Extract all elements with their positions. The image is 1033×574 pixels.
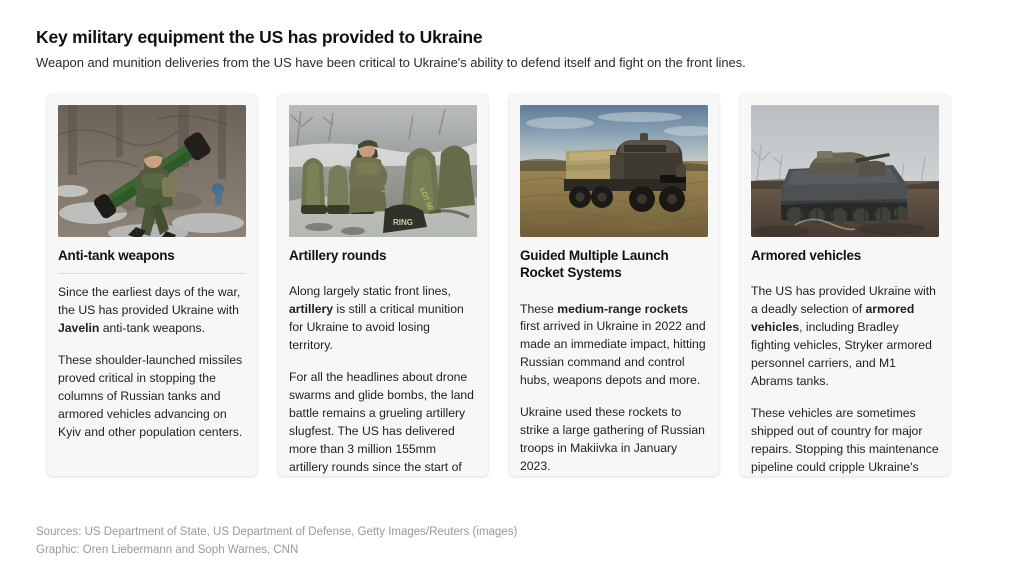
- bradley-fighting-vehicle-photo: [751, 105, 939, 237]
- footer: Sources: US Department of State, US Depa…: [36, 524, 517, 560]
- himars-rocket-launcher-vehicle-photo: [520, 105, 708, 237]
- infographic-page: Key military equipment the US has provid…: [0, 0, 1033, 574]
- card-paragraph: Ukraine used these rockets to strike a l…: [520, 404, 708, 476]
- footer-graphic-credit: Graphic: Oren Liebermann and Soph Warnes…: [36, 542, 517, 560]
- card-paragraph: For all the headlines about drone swarms…: [289, 369, 477, 476]
- body-text: Ukraine used these rockets to strike a l…: [520, 405, 705, 473]
- equipment-card: Armored vehicles The US has provided Ukr…: [740, 94, 950, 476]
- card-paragraph: The US has provided Ukraine with a deadl…: [751, 283, 939, 391]
- card-paragraph: These shoulder-launched missiles proved …: [58, 352, 246, 442]
- svg-text:RING: RING: [393, 218, 413, 227]
- body-text: Since the earliest days of the war, the …: [58, 285, 240, 317]
- body-text: anti-tank weapons.: [99, 321, 205, 335]
- page-title: Key military equipment the US has provid…: [36, 27, 482, 48]
- card-title: Artillery rounds: [289, 247, 477, 264]
- body-text: These: [520, 302, 557, 316]
- equipment-card: Guided Multiple Launch Rocket Systems Th…: [509, 94, 719, 476]
- card-title: Anti-tank weapons: [58, 247, 246, 264]
- card-divider: [58, 273, 246, 274]
- emphasis-text: artillery: [289, 302, 333, 316]
- body-text: first arrived in Ukraine in 2022 and mad…: [520, 319, 706, 387]
- card-title: Armored vehicles: [751, 247, 939, 264]
- equipment-card: Anti-tank weapons Since the earliest day…: [47, 94, 257, 476]
- card-paragraph: Since the earliest days of the war, the …: [58, 284, 246, 338]
- equipment-card: LOT 001 RING Artillery rounds Along larg…: [278, 94, 488, 476]
- body-text: Along largely static front lines,: [289, 284, 451, 298]
- emphasis-text: Javelin: [58, 321, 99, 335]
- card-title: Guided Multiple Launch Rocket Systems: [520, 247, 708, 282]
- card-paragraph: Along largely static front lines, artill…: [289, 283, 477, 355]
- card-body: Since the earliest days of the war, the …: [58, 284, 246, 442]
- body-text: These shoulder-launched missiles proved …: [58, 353, 242, 439]
- body-text: These vehicles are sometimes shipped out…: [751, 406, 939, 476]
- card-paragraph: These medium-range rockets first arrived…: [520, 301, 708, 391]
- soldier-carrying-javelin-launcher-photo: [58, 105, 246, 237]
- card-body: Along largely static front lines, artill…: [289, 283, 477, 476]
- card-body: The US has provided Ukraine with a deadl…: [751, 283, 939, 476]
- card-body: These medium-range rockets first arrived…: [520, 301, 708, 476]
- page-subtitle: Weapon and munition deliveries from the …: [36, 55, 746, 70]
- emphasis-text: medium-range rockets: [557, 302, 688, 316]
- equipment-card-list: Anti-tank weapons Since the earliest day…: [47, 94, 987, 476]
- body-text: For all the headlines about drone swarms…: [289, 370, 474, 476]
- footer-sources: Sources: US Department of State, US Depa…: [36, 524, 517, 542]
- soldier-with-artillery-shells-photo: LOT 001 RING: [289, 105, 477, 237]
- card-paragraph: These vehicles are sometimes shipped out…: [751, 405, 939, 476]
